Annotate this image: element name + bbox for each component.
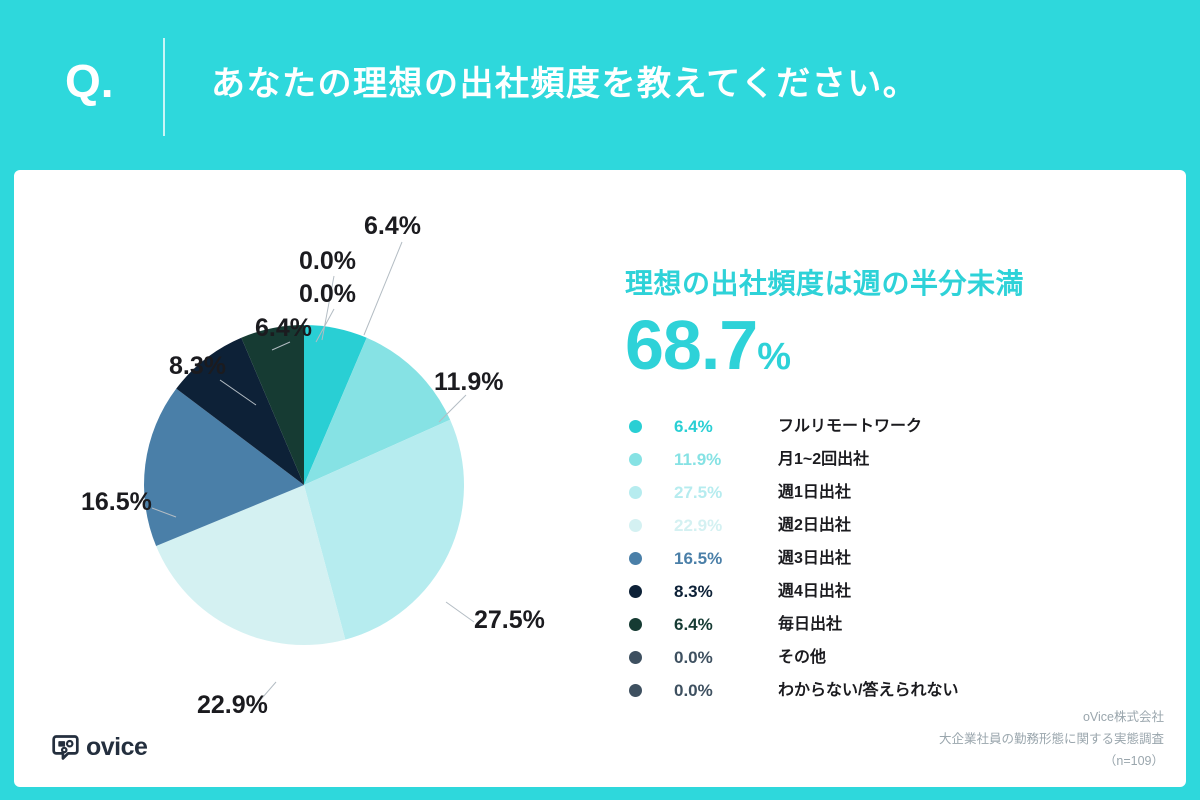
- pie-slice-label: 8.3%: [169, 354, 226, 379]
- legend-color-swatch-icon: [629, 453, 642, 466]
- credits-sample-size: （n=109）: [939, 751, 1164, 773]
- pie-slice-label: 11.9%: [434, 370, 504, 395]
- legend-color-swatch-icon: [629, 585, 642, 598]
- legend-percent: 8.3%: [674, 583, 778, 600]
- legend-item[interactable]: 27.5%週1日出社: [625, 476, 1185, 509]
- legend-label: 月1~2回出社: [778, 452, 869, 468]
- legend-label: 週2日出社: [778, 518, 851, 534]
- headline-figure-value: 68.7: [625, 306, 757, 384]
- pie-slice-label: 6.4%: [255, 316, 312, 341]
- legend-percent: 0.0%: [674, 682, 778, 699]
- legend-percent: 16.5%: [674, 550, 778, 567]
- pie-slice-label: 0.0%: [299, 282, 356, 307]
- legend-label: 週3日出社: [778, 551, 851, 567]
- legend-color-swatch-icon: [629, 552, 642, 565]
- legend-label: 週4日出社: [778, 584, 851, 600]
- legend-label: その他: [778, 650, 826, 666]
- headline-figure: 68.7%: [625, 310, 791, 380]
- pie-slice-label: 16.5%: [81, 490, 152, 515]
- credits-company: oVice株式会社: [939, 707, 1164, 729]
- legend-color-swatch-icon: [629, 486, 642, 499]
- header-divider: [163, 38, 165, 136]
- question-mark-label: Q.: [65, 58, 114, 104]
- legend-label: わからない/答えられない: [778, 683, 958, 699]
- legend-item[interactable]: 8.3%週4日出社: [625, 575, 1185, 608]
- legend-color-swatch-icon: [629, 420, 642, 433]
- legend-label: フルリモートワーク: [778, 419, 922, 435]
- legend-percent: 0.0%: [674, 649, 778, 666]
- slide-header: Q. あなたの理想の出社頻度を教えてください。: [0, 0, 1200, 170]
- legend-label: 週1日出社: [778, 485, 851, 501]
- pie-slice-label: 27.5%: [474, 608, 545, 633]
- legend-label: 毎日出社: [778, 617, 842, 633]
- legend-item[interactable]: 0.0%わからない/答えられない: [625, 674, 1185, 707]
- ovice-speech-bubble-icon: [52, 734, 79, 761]
- legend-color-swatch-icon: [629, 618, 642, 631]
- pie-leader-line: [364, 242, 402, 335]
- pie-chart: 6.4%0.0%0.0%6.4%8.3%11.9%16.5%27.5%22.9%: [34, 190, 574, 770]
- legend-item[interactable]: 6.4%毎日出社: [625, 608, 1185, 641]
- legend-item[interactable]: 6.4%フルリモートワーク: [625, 410, 1185, 443]
- legend-percent: 27.5%: [674, 484, 778, 501]
- legend-percent: 6.4%: [674, 418, 778, 435]
- slide-root: Q. あなたの理想の出社頻度を教えてください。 6.4%0.0%0.0%6.4%…: [0, 0, 1200, 800]
- ovice-logo: ovice: [52, 734, 147, 761]
- legend-color-swatch-icon: [629, 519, 642, 532]
- ovice-logo-text: ovice: [86, 735, 147, 760]
- pie-chart-svg: [34, 190, 574, 770]
- summary-panel: 理想の出社頻度は週の半分未満 68.7% 6.4%フルリモートワーク11.9%月…: [606, 170, 1186, 787]
- legend-color-swatch-icon: [629, 684, 642, 697]
- content-card: 6.4%0.0%0.0%6.4%8.3%11.9%16.5%27.5%22.9%…: [14, 170, 1186, 787]
- credits-survey: 大企業社員の勤務形態に関する実態調査: [939, 729, 1164, 751]
- legend-item[interactable]: 11.9%月1~2回出社: [625, 443, 1185, 476]
- legend-item[interactable]: 22.9%週2日出社: [625, 509, 1185, 542]
- credits-block: oVice株式会社 大企業社員の勤務形態に関する実態調査 （n=109）: [939, 707, 1164, 773]
- legend-item[interactable]: 0.0%その他: [625, 641, 1185, 674]
- headline-text: 理想の出社頻度は週の半分未満: [625, 270, 1024, 298]
- pie-slice-label: 22.9%: [197, 693, 268, 718]
- legend-percent: 6.4%: [674, 616, 778, 633]
- pie-slice-label: 0.0%: [299, 249, 356, 274]
- pie-leader-line: [446, 602, 474, 622]
- legend-percent: 11.9%: [674, 451, 778, 468]
- legend-percent: 22.9%: [674, 517, 778, 534]
- legend-color-swatch-icon: [629, 651, 642, 664]
- chart-legend: 6.4%フルリモートワーク11.9%月1~2回出社27.5%週1日出社22.9%…: [625, 410, 1185, 707]
- headline-figure-unit: %: [757, 336, 791, 378]
- legend-item[interactable]: 16.5%週3日出社: [625, 542, 1185, 575]
- question-title: あなたの理想の出社頻度を教えてください。: [211, 63, 918, 106]
- pie-slice-label: 6.4%: [364, 214, 421, 239]
